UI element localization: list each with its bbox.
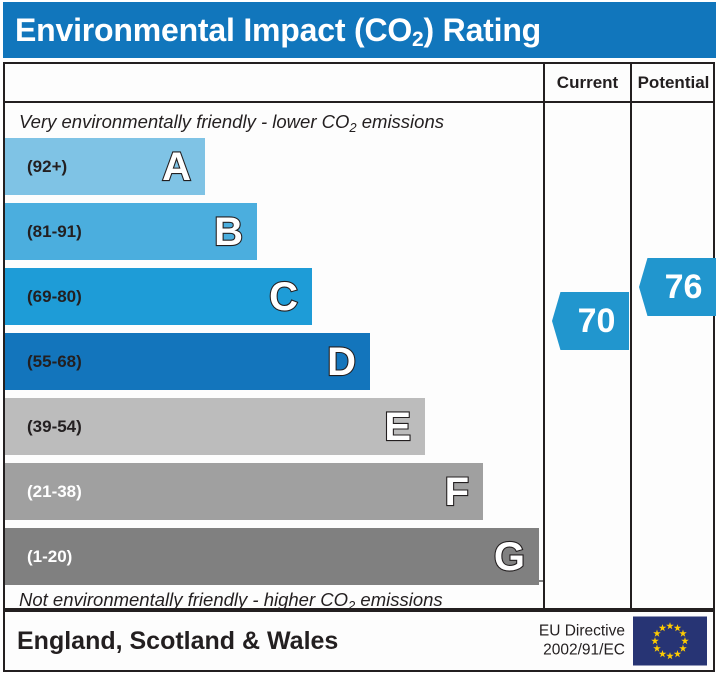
band-letter-f: F xyxy=(445,472,469,512)
column-header-current: Current xyxy=(545,64,630,101)
current-rating-value: 70 xyxy=(566,304,616,338)
eu-star-icon xyxy=(659,650,667,658)
caption-bottom-after: emissions xyxy=(355,589,442,610)
eu-star-icon xyxy=(659,624,667,632)
band-letter-b: B xyxy=(214,212,243,252)
title-text-before: Environmental Impact (CO xyxy=(15,12,412,48)
caption-very-friendly: Very environmentally friendly - lower CO… xyxy=(19,111,444,133)
caption-not-friendly: Not environmentally friendly - higher CO… xyxy=(19,589,443,611)
rating-band-g: (1-20) G xyxy=(5,528,539,585)
eu-star-icon xyxy=(666,652,674,660)
eu-star-icon xyxy=(674,624,682,632)
rating-table: Current Potential Very environmentally f… xyxy=(3,62,715,610)
rating-band-b: (81-91) B xyxy=(5,203,257,260)
band-range-f: (21-38) xyxy=(5,482,82,502)
current-rating-badge: 70 xyxy=(552,292,629,350)
title-text-after: ) Rating xyxy=(424,12,542,48)
band-range-d: (55-68) xyxy=(5,352,82,372)
eu-star-icon xyxy=(679,645,687,653)
eu-star-icon xyxy=(674,650,682,658)
header-divider-left xyxy=(5,101,543,103)
column-divider-current xyxy=(543,64,545,608)
band-range-g: (1-20) xyxy=(5,547,72,567)
eu-star-icon xyxy=(651,637,659,645)
header-divider-right xyxy=(543,101,715,103)
caption-top-after: emissions xyxy=(357,111,444,132)
band-range-a: (92+) xyxy=(5,157,67,177)
potential-rating-badge: 76 xyxy=(639,258,716,316)
rating-band-f: (21-38) F xyxy=(5,463,483,520)
bottom-caption-divider xyxy=(5,580,543,582)
eu-directive-line2: 2002/91/EC xyxy=(539,641,625,660)
caption-bottom-before: Not environmentally friendly - higher CO xyxy=(19,589,348,610)
chart-footer: England, Scotland & Wales EU Directive 2… xyxy=(3,610,715,672)
page-title: Environmental Impact (CO2) Rating xyxy=(3,12,541,49)
column-divider-potential xyxy=(630,64,632,608)
rating-band-a: (92+) A xyxy=(5,138,205,195)
eu-star-icon xyxy=(653,630,661,638)
rating-band-d: (55-68) D xyxy=(5,333,370,390)
eu-star-icon xyxy=(666,622,674,630)
band-letter-d: D xyxy=(327,342,356,382)
band-letter-e: E xyxy=(384,407,411,447)
epc-environmental-impact-chart: Environmental Impact (CO2) Rating Curren… xyxy=(0,0,719,675)
eu-star-icon xyxy=(653,645,661,653)
eu-directive-label: EU Directive 2002/91/EC xyxy=(539,622,625,661)
rating-band-e: (39-54) E xyxy=(5,398,425,455)
band-range-e: (39-54) xyxy=(5,417,82,437)
eu-flag-icon xyxy=(633,617,707,666)
potential-rating-value: 76 xyxy=(653,270,703,304)
band-letter-c: C xyxy=(269,277,298,317)
title-subscript: 2 xyxy=(412,28,423,51)
eu-star-icon xyxy=(681,637,689,645)
caption-top-subscript: 2 xyxy=(349,120,356,135)
band-letter-a: A xyxy=(162,147,191,187)
band-range-b: (81-91) xyxy=(5,222,82,242)
band-letter-g: G xyxy=(494,537,525,577)
column-header-potential: Potential xyxy=(632,64,715,101)
rating-bands: (92+) A (81-91) B (69-80) C (55-68) D (3… xyxy=(5,138,543,580)
rating-band-c: (69-80) C xyxy=(5,268,312,325)
band-range-c: (69-80) xyxy=(5,287,82,307)
eu-star-icon xyxy=(679,630,687,638)
eu-directive-line1: EU Directive xyxy=(539,622,625,641)
footer-region-label: England, Scotland & Wales xyxy=(5,627,338,656)
chart-title-bar: Environmental Impact (CO2) Rating xyxy=(3,2,716,58)
caption-top-before: Very environmentally friendly - lower CO xyxy=(19,111,349,132)
